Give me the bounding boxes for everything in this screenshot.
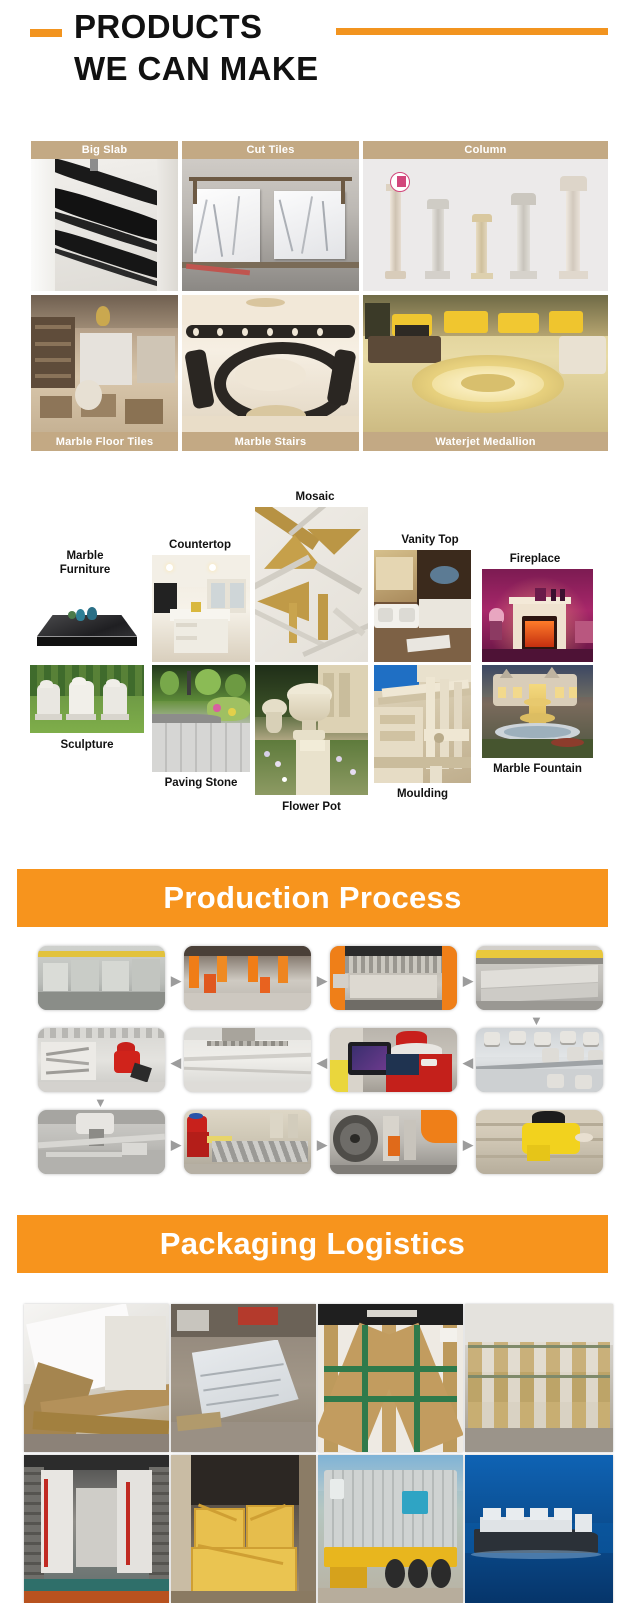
photo-paving-stone: [152, 665, 250, 772]
photo-marble-stairs: [182, 295, 359, 432]
photo-cut-tiles: [182, 159, 359, 291]
packaging-photo-3: [318, 1304, 463, 1452]
label-marble-furniture: Marble Furniture: [40, 550, 130, 578]
photo-column: [363, 159, 608, 291]
caption-cut-tiles: Cut Tiles: [182, 141, 359, 159]
process-step-8: [38, 1028, 165, 1092]
process-step-3: [330, 946, 457, 1010]
product-catalog-page: PRODUCTS WE CAN MAKE Big Slab Cut Tiles: [0, 0, 637, 1600]
photo-waterjet-medallion: [363, 295, 608, 432]
process-arrow-down-1: ▼: [530, 1014, 543, 1027]
process-arrow-10: ▶: [317, 1138, 327, 1151]
photo-big-slab: [31, 159, 178, 291]
process-step-2: [184, 946, 311, 1010]
process-arrow-1: ▶: [171, 974, 181, 987]
packaging-photo-1: [24, 1304, 169, 1452]
packaging-photo-4: [465, 1304, 613, 1452]
process-arrow-11: ▶: [463, 1138, 473, 1151]
process-step-9: [38, 1110, 165, 1174]
header-accent-dash: [30, 29, 62, 37]
photo-marble-floor-tiles: [31, 295, 178, 432]
process-step-5: [476, 1028, 603, 1092]
process-step-1: [38, 946, 165, 1010]
caption-waterjet-medallion: Waterjet Medallion: [363, 432, 608, 451]
photo-flower-pot: [255, 665, 368, 795]
process-step-12: [476, 1110, 603, 1174]
caption-marble-stairs: Marble Stairs: [182, 432, 359, 451]
label-countertop: Countertop: [152, 538, 248, 552]
caption-big-slab: Big Slab: [31, 141, 178, 159]
photo-vanity-top: [374, 550, 471, 662]
label-vanity-top: Vanity Top: [385, 533, 475, 547]
banner-packaging-logistics: Packaging Logistics: [17, 1215, 608, 1273]
process-arrow-7: ◀: [171, 1056, 181, 1069]
packaging-logistics-grid: [0, 1294, 637, 1594]
caption-column: Column: [363, 141, 608, 159]
label-moulding: Moulding: [374, 787, 471, 801]
label-paving-stone: Paving Stone: [152, 776, 250, 790]
process-step-4: [476, 946, 603, 1010]
process-step-6: [330, 1028, 457, 1092]
process-step-10: [184, 1110, 311, 1174]
page-title-line1: PRODUCTS: [74, 10, 262, 43]
process-arrow-9: ▶: [171, 1138, 181, 1151]
label-flower-pot: Flower Pot: [255, 800, 368, 814]
packaging-photo-5: [24, 1455, 169, 1603]
page-header: PRODUCTS WE CAN MAKE: [0, 0, 637, 110]
process-step-11: [330, 1110, 457, 1174]
packaging-photo-7: [318, 1455, 463, 1603]
label-sculpture: Sculpture: [40, 738, 134, 752]
photo-moulding: [374, 665, 471, 783]
process-arrow-6: ◀: [317, 1056, 327, 1069]
photo-mosaic: [255, 507, 368, 662]
label-mosaic: Mosaic: [255, 490, 375, 504]
photo-marble-furniture: [30, 588, 144, 662]
process-arrow-2: ▶: [317, 974, 327, 987]
banner-production-process: Production Process: [17, 869, 608, 927]
page-title-line2: WE CAN MAKE: [74, 52, 319, 85]
packaging-photo-8: [465, 1455, 613, 1603]
process-arrow-3: ▶: [463, 974, 473, 987]
photo-countertop: [152, 555, 250, 662]
products-grid: Big Slab Cut Tiles: [31, 141, 608, 451]
packaging-photo-6: [171, 1455, 316, 1603]
photo-sculpture: [30, 665, 144, 733]
header-accent-line: [336, 28, 608, 35]
production-process-grid: ▶ ▶ ▶: [0, 940, 637, 1170]
caption-marble-floor-tiles: Marble Floor Tiles: [31, 432, 178, 451]
label-marble-fountain: Marble Fountain: [474, 762, 601, 776]
photo-marble-fountain: [482, 665, 593, 758]
process-arrow-down-2: ▼: [94, 1096, 107, 1109]
photo-fireplace: [482, 569, 593, 662]
product-types-grid: Mosaic Countertop: [0, 470, 637, 830]
packaging-photo-2: [171, 1304, 316, 1452]
label-fireplace: Fireplace: [490, 552, 580, 566]
process-step-7: [184, 1028, 311, 1092]
process-arrow-5: ◀: [463, 1056, 473, 1069]
